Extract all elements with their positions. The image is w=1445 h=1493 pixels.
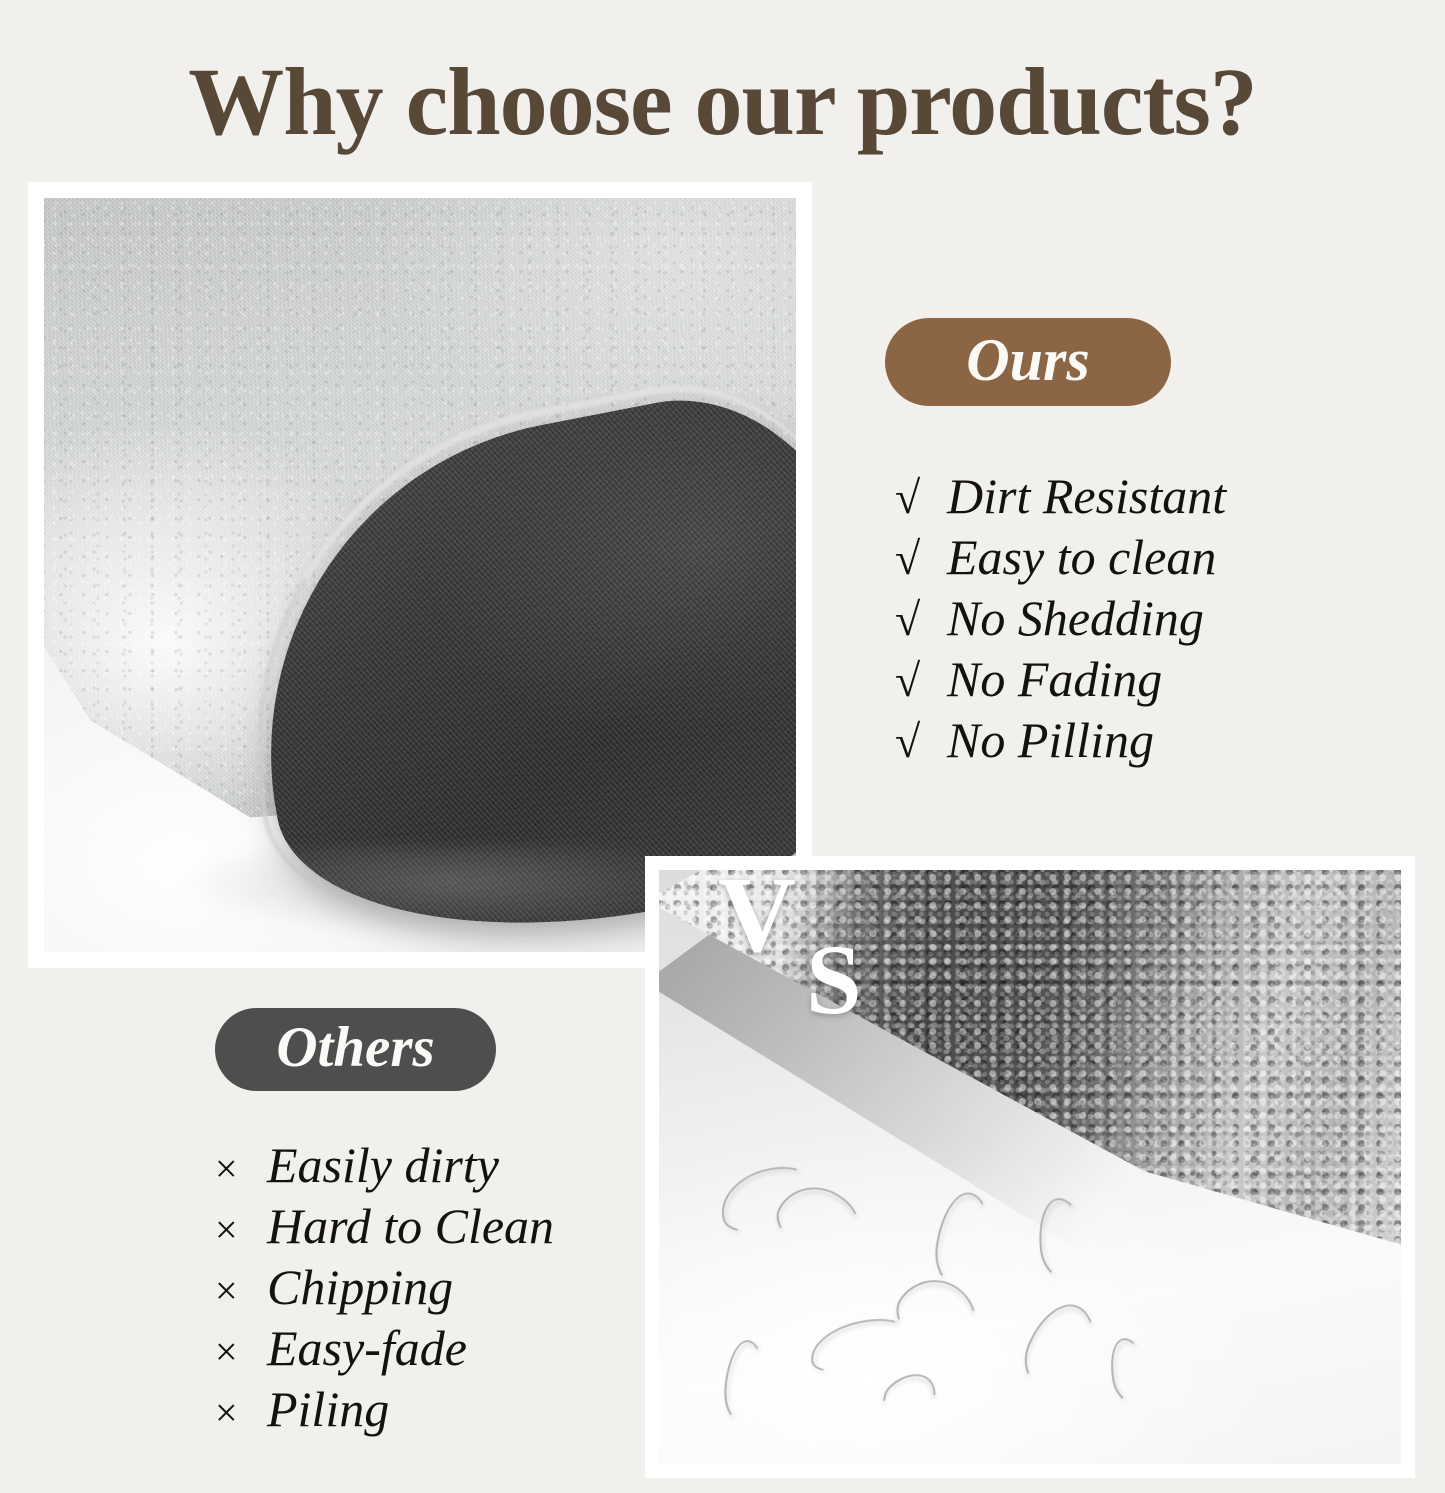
list-item: × Chipping: [215, 1257, 735, 1318]
others-product-photo-frame: [645, 856, 1415, 1478]
cross-icon: ×: [215, 1267, 267, 1316]
ours-product-photo-frame: [28, 182, 812, 968]
cross-icon: ×: [215, 1389, 267, 1438]
check-icon: √: [895, 531, 947, 587]
feature-label: Hard to Clean: [267, 1196, 554, 1257]
list-item: × Easy-fade: [215, 1318, 735, 1379]
cross-icon: ×: [215, 1206, 267, 1255]
others-feature-list: × Easily dirty × Hard to Clean × Chippin…: [215, 1135, 735, 1440]
infographic-page: Why choose our products? V S: [0, 0, 1445, 1493]
feature-label: Piling: [267, 1379, 389, 1440]
others-comparison-column: Others × Easily dirty × Hard to Clean × …: [215, 1008, 735, 1440]
cross-icon: ×: [215, 1145, 267, 1194]
feature-label: Chipping: [267, 1257, 453, 1318]
list-item: × Easily dirty: [215, 1135, 735, 1196]
list-item: √ Dirt Resistant: [895, 466, 1405, 527]
check-icon: √: [895, 592, 947, 648]
check-icon: √: [895, 470, 947, 526]
ours-comparison-column: Ours √ Dirt Resistant √ Easy to clean √ …: [885, 318, 1405, 771]
feature-label: Easy-fade: [267, 1318, 467, 1379]
mat-drop-shadow: [179, 846, 720, 936]
others-badge: Others: [215, 1008, 496, 1091]
ours-feature-list: √ Dirt Resistant √ Easy to clean √ No Sh…: [895, 466, 1405, 771]
list-item: √ No Fading: [895, 649, 1405, 710]
feature-label: No Pilling: [947, 710, 1154, 771]
list-item: × Hard to Clean: [215, 1196, 735, 1257]
page-title: Why choose our products?: [0, 52, 1445, 153]
feature-label: No Shedding: [947, 588, 1204, 649]
list-item: √ Easy to clean: [895, 527, 1405, 588]
feature-label: No Fading: [947, 649, 1162, 710]
feature-label: Easily dirty: [267, 1135, 499, 1196]
cross-icon: ×: [215, 1328, 267, 1377]
list-item: × Piling: [215, 1379, 735, 1440]
others-product-photo: [659, 870, 1401, 1464]
check-icon: √: [895, 714, 947, 770]
feature-label: Dirt Resistant: [947, 466, 1226, 527]
list-item: √ No Shedding: [895, 588, 1405, 649]
list-item: √ No Pilling: [895, 710, 1405, 771]
feature-label: Easy to clean: [947, 527, 1216, 588]
ours-product-photo: [44, 198, 796, 952]
check-icon: √: [895, 653, 947, 709]
ours-badge: Ours: [885, 318, 1171, 406]
